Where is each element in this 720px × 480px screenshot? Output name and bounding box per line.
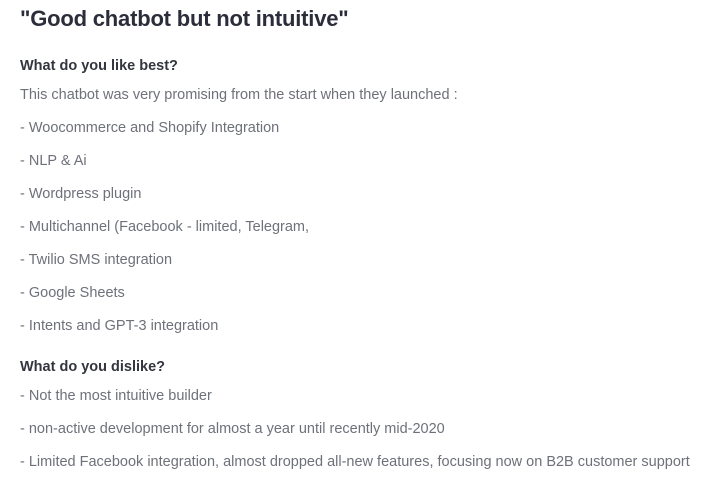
qa-answer-dislike: - Not the most intuitive builder - non-a… — [20, 386, 700, 472]
qa-line: - Twilio SMS integration — [20, 250, 700, 283]
qa-question-dislike: What do you dislike? — [20, 357, 700, 377]
qa-line: - Woocommerce and Shopify Integration — [20, 118, 700, 151]
qa-line: - Intents and GPT-3 integration — [20, 316, 700, 336]
qa-section-dislike: What do you dislike? - Not the most intu… — [20, 357, 700, 472]
qa-line: - Google Sheets — [20, 283, 700, 316]
qa-section-like: What do you like best? This chatbot was … — [20, 56, 700, 336]
qa-question-like: What do you like best? — [20, 56, 700, 76]
qa-line: - Limited Facebook integration, almost d… — [20, 452, 700, 472]
qa-line: - non-active development for almost a ye… — [20, 419, 700, 452]
qa-line: - Not the most intuitive builder — [20, 386, 700, 419]
review-title: "Good chatbot but not intuitive" — [20, 0, 700, 34]
qa-line: - Wordpress plugin — [20, 184, 700, 217]
qa-line: - NLP & Ai — [20, 151, 700, 184]
qa-answer-like: This chatbot was very promising from the… — [20, 85, 700, 336]
qa-line: This chatbot was very promising from the… — [20, 85, 700, 118]
review-container: "Good chatbot but not intuitive" What do… — [0, 0, 720, 480]
qa-line: - Multichannel (Facebook - limited, Tele… — [20, 217, 700, 250]
